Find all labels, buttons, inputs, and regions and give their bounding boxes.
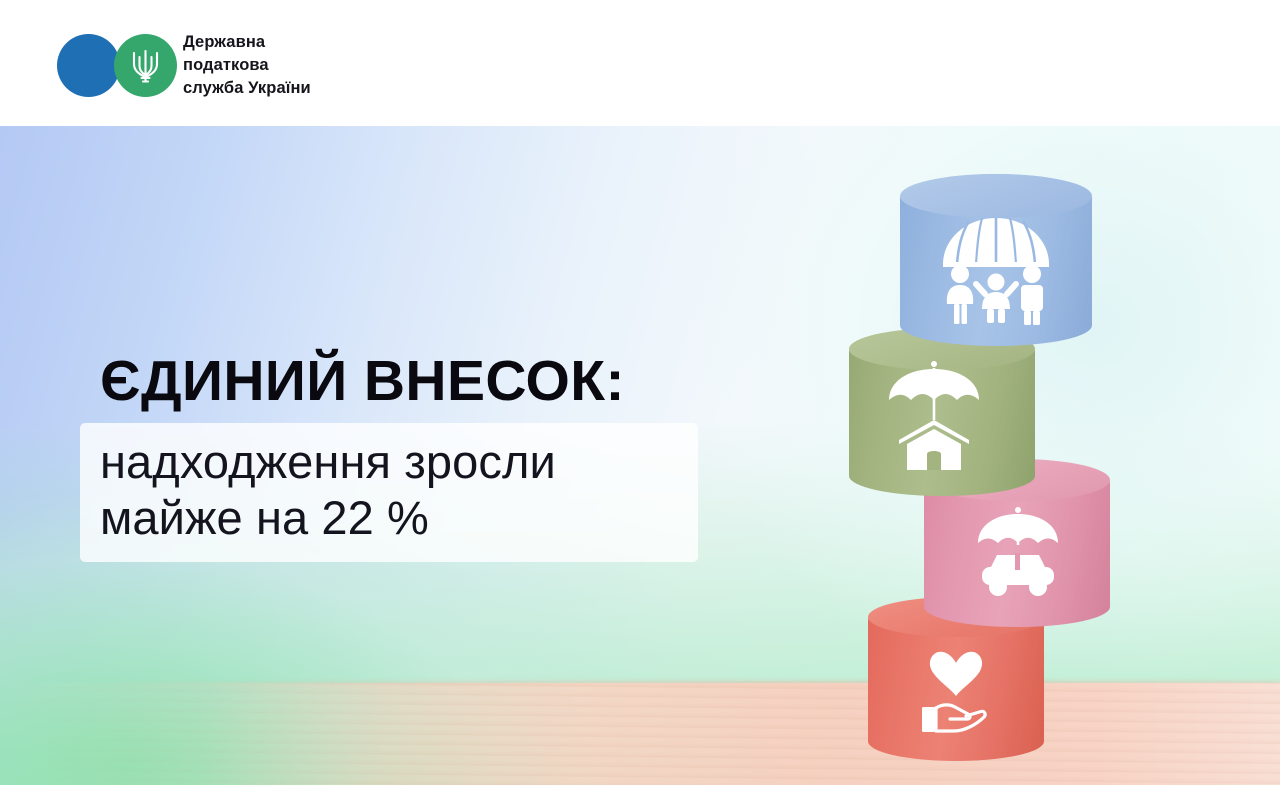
- org-name-line-1: Державна: [183, 31, 311, 54]
- poster-canvas: ЄДИНИЙ ВНЕСОК: надходження зросли майже …: [0, 0, 1280, 785]
- organization-logo[interactable]: Державна податкова служба України: [57, 31, 311, 100]
- subtitle-text: надходження зросли майже на 22 %: [100, 434, 690, 546]
- ukrainian-trident-icon: [127, 47, 164, 85]
- block-blue: [900, 174, 1092, 346]
- blue-circle-icon: [57, 34, 120, 97]
- block-blue-top: [900, 174, 1092, 218]
- block-green: [849, 328, 1035, 496]
- org-name-line-3: служба України: [183, 77, 311, 100]
- logo-marks: [57, 34, 170, 97]
- header-band: Державна податкова служба України: [0, 0, 1280, 126]
- organization-name: Державна податкова служба України: [183, 31, 311, 100]
- org-name-line-2: податкова: [183, 54, 311, 77]
- page-title: ЄДИНИЙ ВНЕСОК:: [100, 348, 625, 414]
